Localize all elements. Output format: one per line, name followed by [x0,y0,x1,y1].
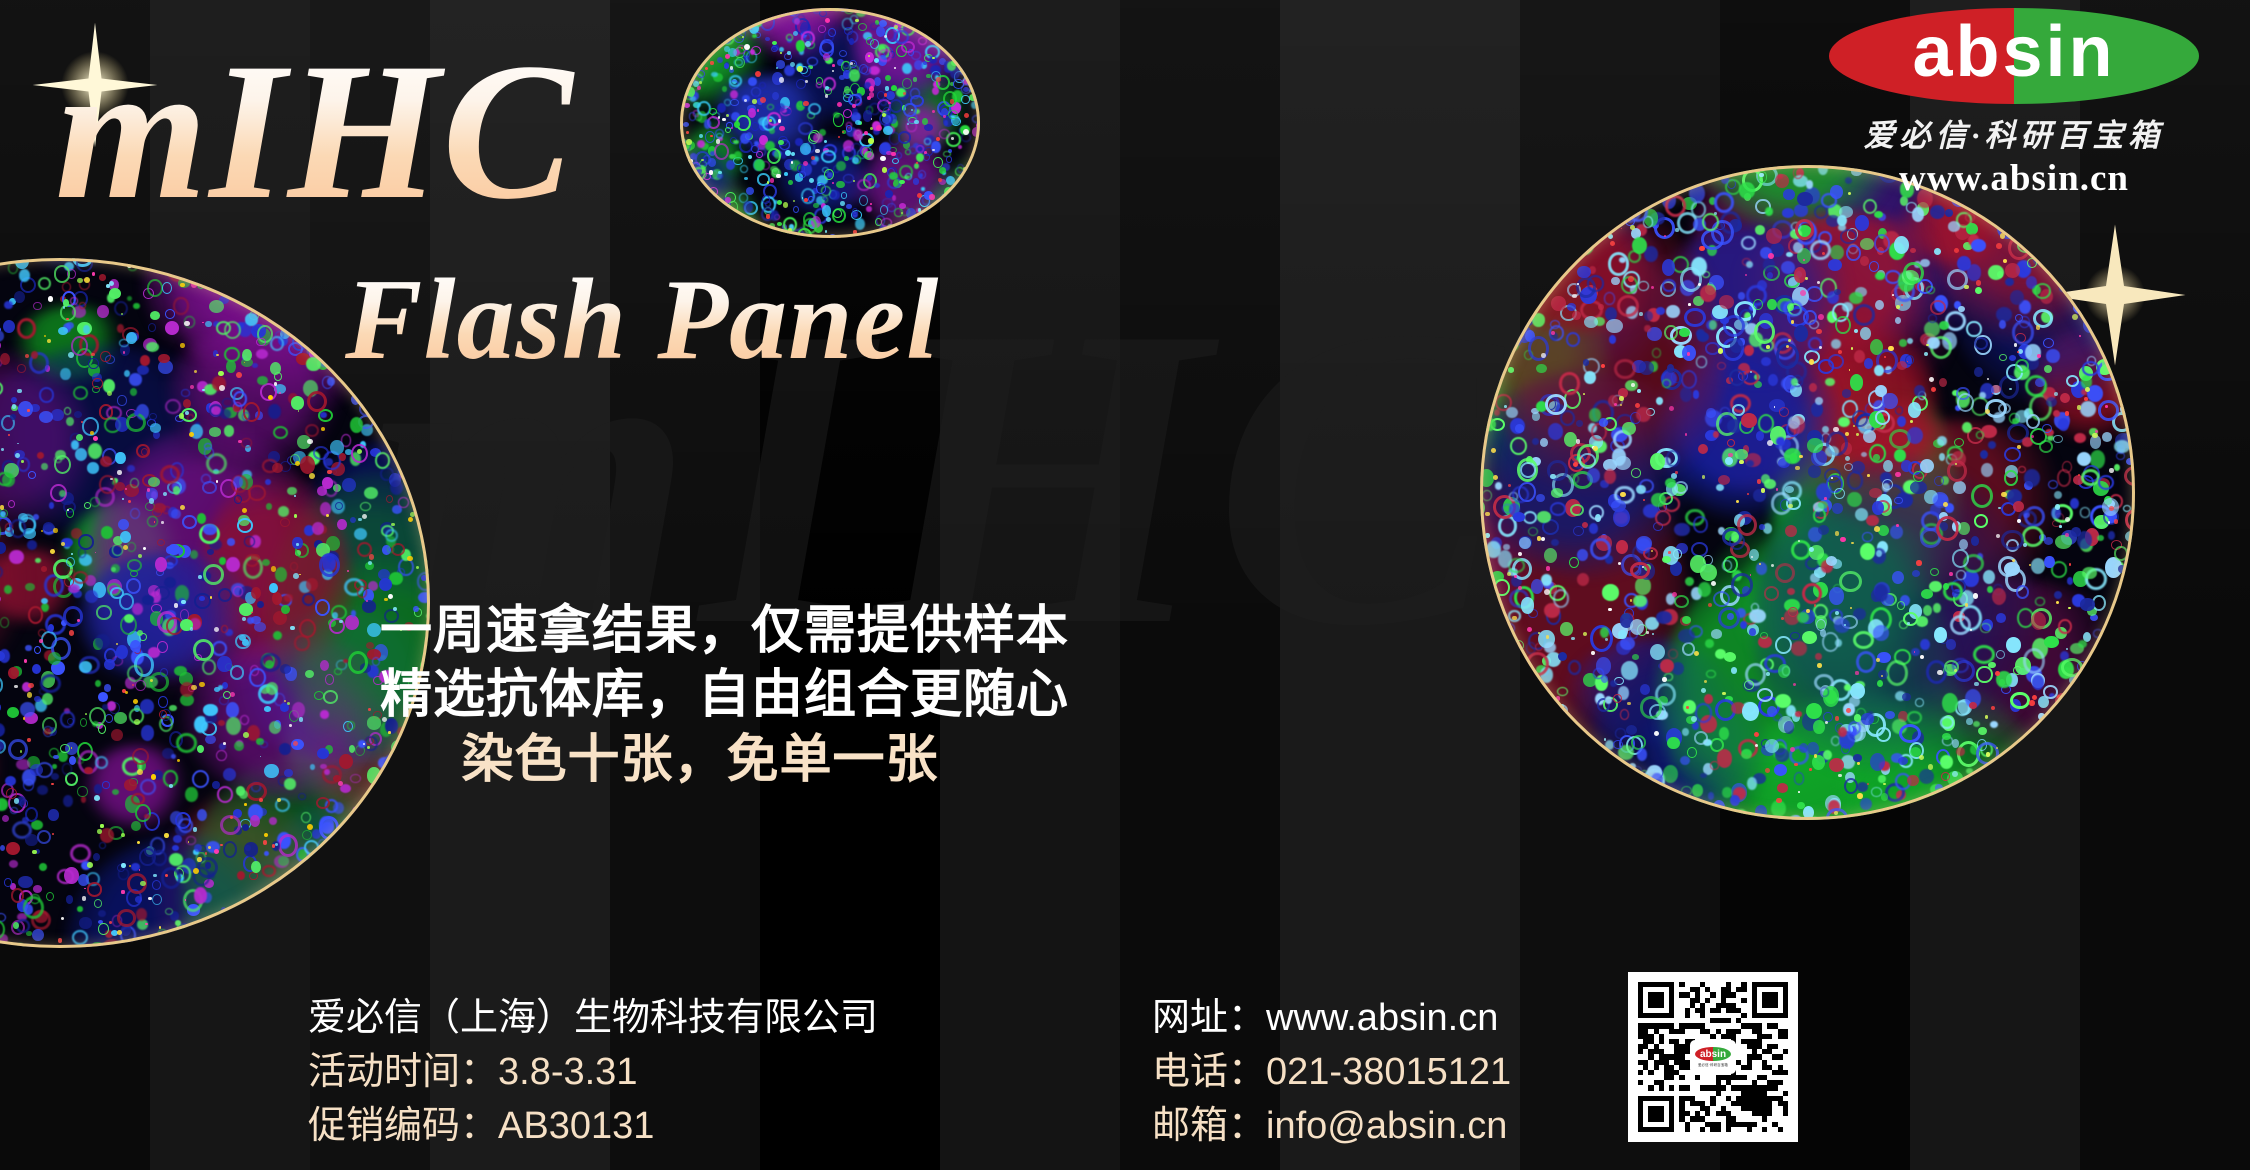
footer-phone-label: 电话： [1152,1051,1266,1093]
logo-url: www.absin.cn [1814,157,2214,200]
footer-website-value: www.absin.cn [1266,997,1498,1039]
footer-website-label: 网址： [1152,997,1266,1039]
logo-ellipse: absin [1829,8,2199,104]
footer-promo-code-label: 促销编码： [308,1105,498,1147]
gold-ring-right [1480,165,2135,820]
qr-logo-sub: 爱必信·科研百宝箱 [1698,1062,1728,1067]
footer-period: 活动时间：3.8-3.31 [308,1046,878,1100]
micro-image-top-center [680,8,980,238]
logo-wordmark: absin [1912,16,2115,88]
page-title: mIHC [55,34,575,230]
qr-center-logo: absin 爱必信·科研百宝箱 [1690,1040,1736,1074]
footer-promo-code: 促销编码：AB30131 [308,1100,878,1154]
footer-phone[interactable]: 电话：021-38015121 [1152,1046,1511,1100]
gold-ring-top-center [680,8,980,238]
footer-email-value: info@absin.cn [1266,1105,1507,1147]
tagline-line-2: 精选抗体库，自由组合更随心 [380,664,1020,728]
footer-phone-value: 021-38015121 [1266,1051,1511,1093]
logo-tagline: 爱必信·科研百宝箱 [1814,110,2214,155]
footer-email[interactable]: 邮箱：info@absin.cn [1152,1100,1511,1154]
footer-company-name: 爱必信（上海）生物科技有限公司 [308,992,878,1046]
promo-banner: mIHC mIHC Flash P [0,0,2250,1170]
tagline-line-1: 一周速拿结果，仅需提供样本 [380,600,1020,664]
footer-period-label: 活动时间： [308,1051,498,1093]
footer-email-label: 邮箱： [1152,1105,1266,1147]
micro-image-right [1480,165,2135,820]
page-subtitle: Flash Panel [345,262,939,378]
qr-matrix: absin 爱必信·科研百宝箱 [1638,982,1788,1132]
tagline-block: 一周速拿结果，仅需提供样本 精选抗体库，自由组合更随心 染色十张，免单一张 [380,600,1020,793]
footer: 爱必信（上海）生物科技有限公司 活动时间：3.8-3.31 促销编码：AB301… [0,980,2250,1170]
tagline-line-3: 染色十张，免单一张 [380,729,1020,793]
footer-promo-code-value: AB30131 [498,1105,654,1147]
footer-period-value: 3.8-3.31 [498,1051,637,1093]
footer-company-column: 爱必信（上海）生物科技有限公司 活动时间：3.8-3.31 促销编码：AB301… [308,992,878,1154]
footer-website[interactable]: 网址：www.absin.cn [1152,992,1511,1046]
qr-logo-ellipse: absin [1695,1047,1731,1061]
qr-code[interactable]: absin 爱必信·科研百宝箱 [1628,972,1798,1142]
footer-contact-column: 网址：www.absin.cn 电话：021-38015121 邮箱：info@… [1152,992,1511,1154]
brand-logo: absin 爱必信·科研百宝箱 www.absin.cn [1814,8,2214,200]
